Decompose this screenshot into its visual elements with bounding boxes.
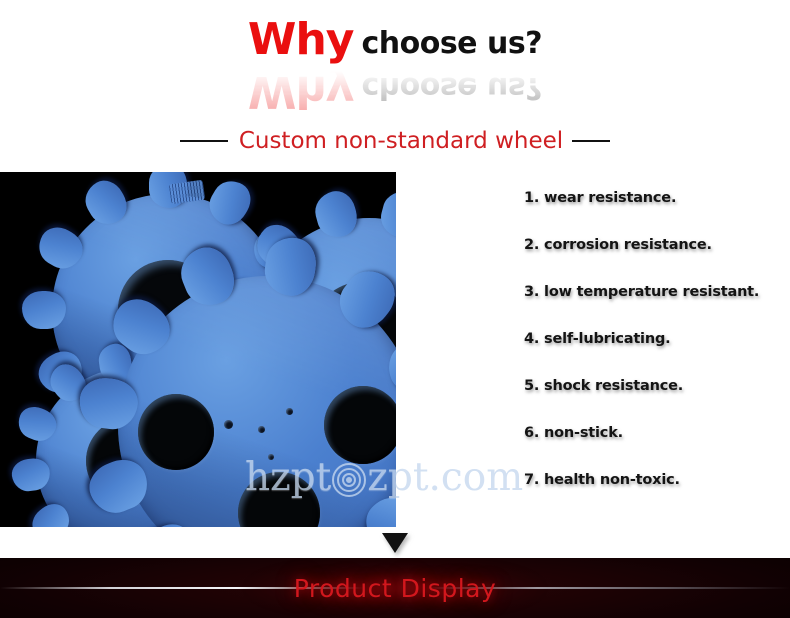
gear-bore: [118, 260, 218, 360]
watermark-suffix: zpt.com: [367, 455, 523, 500]
gear-pin-hole: [258, 426, 265, 433]
headline-emphasis: Why: [248, 18, 354, 62]
headline-reflection-area: Whychoose us?: [0, 68, 790, 112]
list-item: 6. non-stick.: [524, 423, 790, 470]
gear-pin-hole: [224, 420, 233, 429]
gear-knurl: [169, 180, 205, 205]
gear-disc: [250, 218, 396, 456]
list-item: 3. low temperature resistant.: [524, 282, 790, 329]
rule-right: [572, 140, 610, 142]
at-sign-icon: [332, 463, 366, 497]
promo-banner-page: Whychoose us? Whychoose us? Custom non-s…: [0, 0, 790, 618]
headline-reflection: Whychoose us?: [248, 69, 542, 112]
headline-block: Whychoose us? Whychoose us?: [0, 18, 790, 108]
section-title-row: Custom non-standard wheel: [0, 124, 790, 158]
banner-title: Product Display: [0, 558, 790, 618]
watermark-prefix: hzpt: [245, 455, 331, 500]
gear-disc: [52, 194, 284, 426]
list-item: 5. shock resistance.: [524, 376, 790, 423]
gear-lightening-hole: [86, 418, 172, 504]
gear-pin-hole: [286, 408, 293, 415]
list-item: 1. wear resistance.: [524, 188, 790, 235]
gear-disc: [36, 368, 222, 527]
watermark: hzptzpt.com: [245, 455, 523, 500]
gear-edge-shading: [52, 194, 284, 426]
gear-lightening-hole: [314, 282, 396, 376]
gear-edge-shading: [250, 218, 396, 456]
product-display-banner: Product Display: [0, 558, 790, 618]
media-band: 1. wear resistance. 2. corrosion resista…: [0, 172, 790, 527]
list-item: 2. corrosion resistance.: [524, 235, 790, 282]
arrow-zone: [0, 527, 790, 558]
headline-text: Whychoose us?: [248, 18, 542, 62]
headline-rest: choose us?: [361, 29, 542, 59]
list-item: 7. health non-toxic.: [524, 470, 790, 517]
gear-lightening-hole: [138, 394, 214, 470]
gear-lightening-hole: [324, 386, 396, 464]
features-list: 1. wear resistance. 2. corrosion resista…: [524, 188, 790, 517]
section-title: Custom non-standard wheel: [239, 128, 563, 154]
gear-upper-left: [52, 194, 284, 426]
gear-lower-left: [36, 368, 222, 527]
gear-right-rear: [250, 218, 396, 456]
chevron-down-icon: [382, 533, 408, 553]
rule-left: [180, 140, 228, 142]
headline-emphasis-mirror: Why: [248, 69, 354, 112]
list-item: 4. self-lubricating.: [524, 329, 790, 376]
headline-rest-mirror: choose us?: [361, 72, 542, 102]
gear-edge-shading: [36, 368, 222, 527]
